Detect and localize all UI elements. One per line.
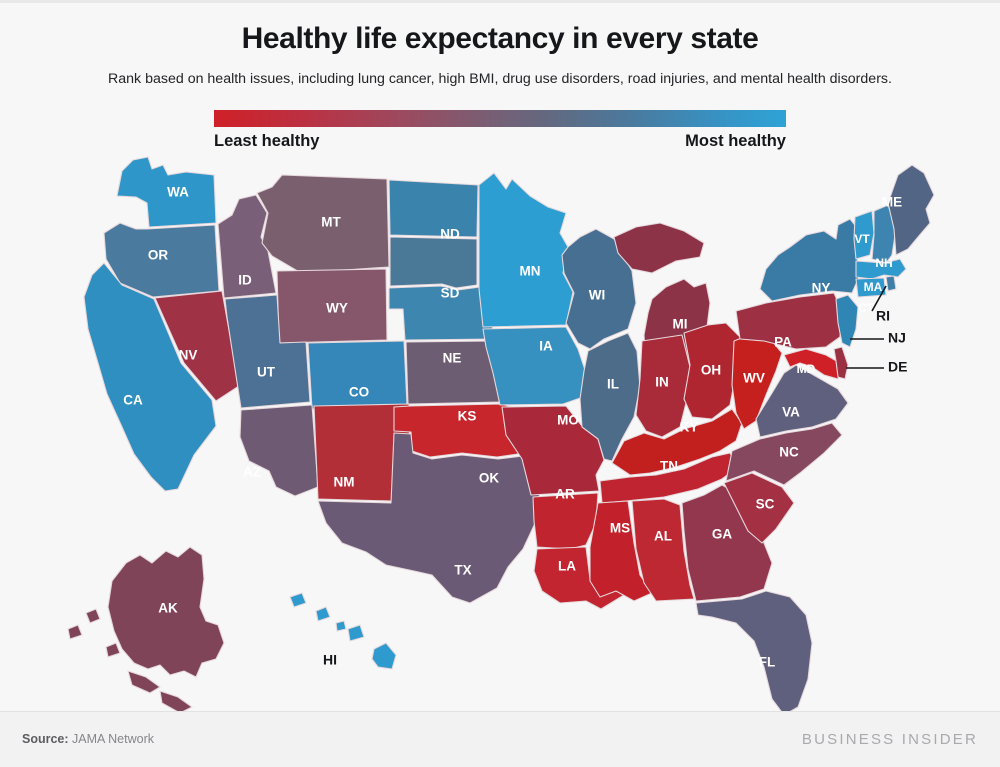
state-label-NE: NE <box>443 350 462 365</box>
state-AK[interactable] <box>68 547 224 711</box>
state-label-CO: CO <box>349 384 369 399</box>
state-label-MT: MT <box>321 214 341 229</box>
source-name: JAMA Network <box>72 732 154 746</box>
state-label-UT: UT <box>257 364 276 379</box>
state-NY[interactable] <box>760 219 860 301</box>
us-map-svg: WA OR CA NV ID MT WY UT CO AZ NM ND SD N… <box>0 151 1000 711</box>
state-label-CA: CA <box>123 392 143 407</box>
state-label-ND: ND <box>440 226 460 241</box>
state-label-NV: NV <box>179 347 198 362</box>
source-prefix: Source: <box>22 732 69 746</box>
color-legend: Least healthy Most healthy <box>214 110 786 151</box>
state-label-WV: WV <box>743 370 765 385</box>
header: Healthy life expectancy in every state R… <box>0 0 1000 88</box>
state-HI[interactable] <box>290 593 396 669</box>
state-label-MA: MA <box>864 280 883 294</box>
source-credit: Source: JAMA Network <box>22 732 154 746</box>
state-label-OH: OH <box>701 362 721 377</box>
state-label-SD: SD <box>441 285 460 300</box>
callout-label-NJ: NJ <box>888 329 906 345</box>
state-label-CT: CT <box>858 301 875 315</box>
callout-label-RI: RI <box>876 307 890 323</box>
state-label-AK: AK <box>158 600 178 615</box>
state-label-AZ: AZ <box>243 464 261 479</box>
state-label-ID: ID <box>238 272 252 287</box>
state-label-MO: MO <box>557 412 579 427</box>
state-label-NH: NH <box>875 256 892 270</box>
top-divider <box>0 0 1000 3</box>
state-label-NY: NY <box>812 280 831 295</box>
state-label-AR: AR <box>555 486 575 501</box>
state-label-VT: VT <box>854 232 870 246</box>
state-label-NC: NC <box>779 444 799 459</box>
state-label-NM: NM <box>334 474 355 489</box>
state-label-FL: FL <box>759 654 776 669</box>
legend-gradient-bar <box>214 110 786 127</box>
state-label-MI: MI <box>673 316 688 331</box>
state-shapes <box>68 157 934 711</box>
state-ME[interactable] <box>888 165 934 255</box>
infographic-page: Healthy life expectancy in every state R… <box>0 0 1000 750</box>
state-ND[interactable] <box>389 180 478 237</box>
state-label-GA: GA <box>712 526 733 541</box>
state-label-KS: KS <box>458 408 477 423</box>
page-title: Healthy life expectancy in every state <box>0 22 1000 57</box>
state-MN[interactable] <box>479 173 573 327</box>
callout-label-DE: DE <box>888 358 907 374</box>
state-AZ[interactable] <box>240 405 318 496</box>
state-label-KY: KY <box>680 419 699 434</box>
state-label-MN: MN <box>520 263 541 278</box>
us-choropleth-map: WA OR CA NV ID MT WY UT CO AZ NM ND SD N… <box>0 151 1000 711</box>
state-label-IN: IN <box>655 374 669 389</box>
state-RI[interactable] <box>886 276 896 291</box>
state-label-OR: OR <box>148 247 169 262</box>
state-label-TN: TN <box>660 458 678 473</box>
brand-logo: BUSINESS INSIDER <box>802 731 978 748</box>
page-subtitle: Rank based on health issues, including l… <box>0 71 1000 88</box>
state-label-MS: MS <box>610 520 630 535</box>
state-label-SC: SC <box>756 496 775 511</box>
state-label-IA: IA <box>539 338 553 353</box>
state-label-LA: LA <box>558 558 576 573</box>
state-label-MD: MD <box>797 362 816 376</box>
state-IA[interactable] <box>483 327 589 405</box>
state-label-OK: OK <box>479 470 500 485</box>
state-label-WY: WY <box>326 300 348 315</box>
state-SD[interactable] <box>390 237 477 288</box>
state-label-VA: VA <box>782 404 800 419</box>
state-label-WI: WI <box>589 287 606 302</box>
state-label-WA: WA <box>167 184 189 199</box>
legend-most-healthy-label: Most healthy <box>685 132 786 151</box>
state-label-TX: TX <box>454 562 471 577</box>
state-label-HI: HI <box>323 651 337 667</box>
state-FL[interactable] <box>696 591 812 711</box>
state-label-IL: IL <box>607 376 619 391</box>
legend-labels: Least healthy Most healthy <box>214 132 786 151</box>
state-label-ME: ME <box>882 194 902 209</box>
state-label-PA: PA <box>774 334 792 349</box>
footer: Source: JAMA Network BUSINESS INSIDER <box>0 711 1000 767</box>
state-label-AL: AL <box>654 528 672 543</box>
legend-least-healthy-label: Least healthy <box>214 132 319 151</box>
